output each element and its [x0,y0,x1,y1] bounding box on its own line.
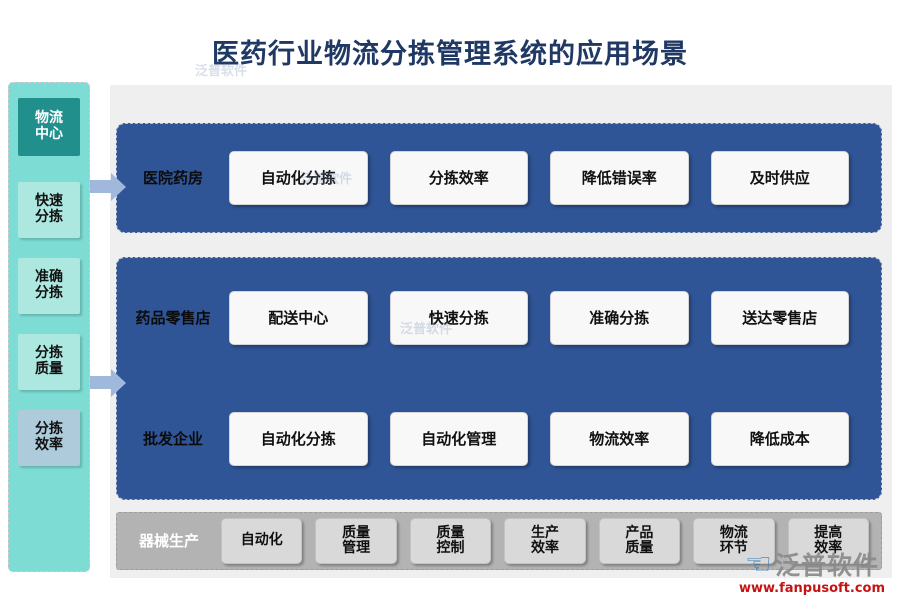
chip-label-line1: 自动化 [241,533,283,548]
sidebar-item-label-line2: 分拣 [35,210,63,226]
panel-row: 医院药房 自动化分拣 分拣效率 降低错误率 及时供应 [117,124,881,232]
chip-logistics-efficiency[interactable]: 物流效率 [550,412,689,466]
sidebar-item-label-line1: 物流 [35,111,63,127]
chip-label: 配送中心 [268,310,328,327]
page-title: 医药行业物流分拣管理系统的应用场景 [0,32,900,71]
chip-label-line2: 效率 [531,541,559,556]
chip-group: 自动化分拣 分拣效率 降低错误率 及时供应 [229,151,881,205]
panel-hospital-pharmacy: 医院药房 自动化分拣 分拣效率 降低错误率 及时供应 [116,123,882,233]
row-label-drug-retail-store: 药品零售店 [117,310,229,327]
chip-automated-sorting[interactable]: 自动化分拣 [229,151,368,205]
chip-label-line1: 提高 [814,526,842,541]
chip-label: 降低错误率 [582,170,657,187]
chip-label: 分拣效率 [429,170,489,187]
chip-group: 自动化分拣 自动化管理 物流效率 降低成本 [229,412,881,466]
sidebar-item-accurate-sorting[interactable]: 准确 分拣 [18,258,80,314]
panel-row: 药品零售店 配送中心 快速分拣 准确分拣 送达零售店 [117,258,881,379]
row-label-hospital-pharmacy: 医院药房 [117,170,229,187]
chip-label: 准确分拣 [589,310,649,327]
sidebar-item-label-line2: 质量 [35,362,63,378]
chip-timely-supply[interactable]: 及时供应 [711,151,850,205]
chip-improve-efficiency[interactable]: 提高 效率 [788,518,869,564]
sidebar-item-label-line2: 中心 [35,127,63,143]
panel-retail-wholesale: 药品零售店 配送中心 快速分拣 准确分拣 送达零售店 批发企业 [116,257,882,500]
chip-label: 自动化管理 [421,431,496,448]
chip-label: 物流效率 [589,431,649,448]
panel-device-manufacturing: 器械生产 自动化 质量 管理 质量 控制 [116,512,882,570]
chip-fast-sorting[interactable]: 快速分拣 [390,291,529,345]
chip-automated-sorting[interactable]: 自动化分拣 [229,412,368,466]
diagram-canvas: 医院药房 自动化分拣 分拣效率 降低错误率 及时供应 药品零售店 [110,85,892,578]
chip-production-efficiency[interactable]: 生产 效率 [504,518,585,564]
chip-label-line2: 环节 [720,541,748,556]
sidebar-item-sorting-efficiency[interactable]: 分拣 效率 [18,410,80,466]
chip-label: 送达零售店 [742,310,817,327]
chip-group: 配送中心 快速分拣 准确分拣 送达零售店 [229,291,881,345]
chip-distribution-center[interactable]: 配送中心 [229,291,368,345]
sidebar-item-fast-sorting[interactable]: 快速 分拣 [18,182,80,238]
sidebar-item-logistics-center[interactable]: 物流 中心 [18,98,80,156]
chip-automated-management[interactable]: 自动化管理 [390,412,529,466]
chip-label-line1: 质量 [342,526,370,541]
logistics-sidebar: 物流 中心 快速 分拣 准确 分拣 分拣 质量 分拣 效率 [8,82,90,572]
chip-label-line2: 效率 [814,541,842,556]
chip-reduce-error-rate[interactable]: 降低错误率 [550,151,689,205]
sidebar-item-label-line1: 准确 [35,270,63,286]
chip-group: 自动化 质量 管理 质量 控制 [221,518,881,564]
chip-label: 及时供应 [750,170,810,187]
chip-sorting-efficiency[interactable]: 分拣效率 [390,151,529,205]
row-label-wholesale-enterprise: 批发企业 [117,431,229,448]
brand-url: www.fanpusoft.com [732,581,892,596]
chip-label-line2: 质量 [625,541,653,556]
chip-label: 自动化分拣 [261,170,336,187]
chip-logistics-link[interactable]: 物流 环节 [693,518,774,564]
chip-product-quality[interactable]: 产品 质量 [599,518,680,564]
chip-label: 降低成本 [750,431,810,448]
chip-label: 自动化分拣 [261,431,336,448]
chip-label-line1: 产品 [625,526,653,541]
chip-accurate-sorting[interactable]: 准确分拣 [550,291,689,345]
chip-label-line1: 生产 [531,526,559,541]
sidebar-item-label-line1: 快速 [35,194,63,210]
chip-label-line1: 物流 [720,526,748,541]
chip-quality-management[interactable]: 质量 管理 [315,518,396,564]
row-label-device-manufacturing: 器械生产 [117,533,221,550]
chip-quality-control[interactable]: 质量 控制 [410,518,491,564]
chip-label: 快速分拣 [429,310,489,327]
sidebar-item-label-line1: 分拣 [35,422,63,438]
sidebar-item-label-line2: 分拣 [35,286,63,302]
panel-row: 器械生产 自动化 质量 管理 质量 控制 [117,513,881,569]
chip-label-line2: 管理 [342,541,370,556]
chip-label-line2: 控制 [437,541,465,556]
sidebar-item-label-line1: 分拣 [35,346,63,362]
chip-reduce-cost[interactable]: 降低成本 [711,412,850,466]
chip-label-line1: 质量 [437,526,465,541]
sidebar-item-sorting-quality[interactable]: 分拣 质量 [18,334,80,390]
sidebar-item-label-line2: 效率 [35,438,63,454]
chip-deliver-to-retail-store[interactable]: 送达零售店 [711,291,850,345]
panel-row: 批发企业 自动化分拣 自动化管理 物流效率 降低成本 [117,379,881,500]
chip-automation[interactable]: 自动化 [221,518,302,564]
